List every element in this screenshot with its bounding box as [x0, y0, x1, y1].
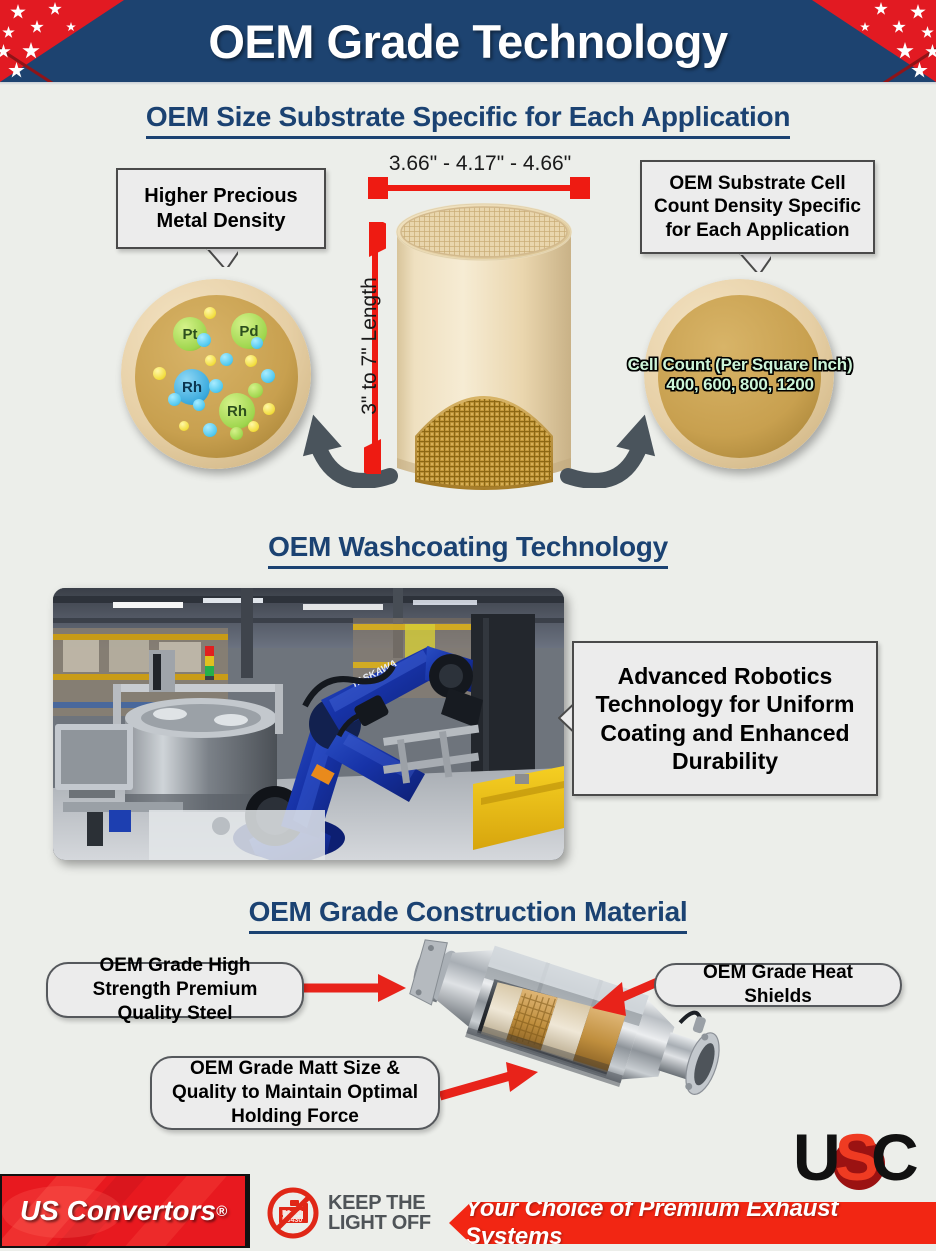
- substrate-honeycomb-face: Pt Pd Rh Rh: [135, 295, 298, 458]
- cell-count-title: Cell Count (Per Square Inch): [590, 355, 890, 375]
- us-convertors-logo-box: US Convertors®: [0, 1174, 247, 1248]
- page-header: OEM Grade Technology: [0, 0, 936, 82]
- arrow-steel: [300, 972, 408, 1004]
- usc-logo: U S C: [795, 1120, 923, 1192]
- pgm-dot: [230, 427, 243, 440]
- keep-light-line-1: KEEP THE: [328, 1193, 431, 1213]
- cell-count-callout: Cell Count (Per Square Inch) 400, 600, 8…: [590, 355, 890, 394]
- svg-text:C: C: [871, 1120, 917, 1192]
- brand-name: US Convertors: [20, 1195, 216, 1227]
- cell-count-values: 400, 600, 800, 1200: [590, 375, 890, 395]
- callout-advanced-robotics-text: Advanced Robotics Technology for Uniform…: [582, 662, 868, 774]
- callout-premium-steel: OEM Grade High Strength Premium Quality …: [46, 962, 304, 1018]
- washcoating-robot-photo: YASKAWA: [53, 588, 564, 860]
- registered-mark: ®: [216, 1203, 227, 1220]
- substrate-cylinder: [389, 196, 579, 496]
- callout-matt-size-text: OEM Grade Matt Size & Quality to Maintai…: [164, 1057, 426, 1128]
- tagline-text: Your Choice of Premium Exhaust Systems: [449, 1195, 936, 1251]
- dimension-length-label: 3" to 7" Length: [358, 246, 382, 446]
- section-heading-washcoating-text: OEM Washcoating Technology: [268, 531, 668, 562]
- pgm-dot: [153, 367, 166, 380]
- callout-tail-right: [737, 252, 771, 272]
- callout-cell-count-density: OEM Substrate Cell Count Density Specifi…: [640, 160, 875, 254]
- pgm-dot: [203, 423, 217, 437]
- callout-cell-count-density-text: OEM Substrate Cell Count Density Specifi…: [650, 172, 865, 242]
- pgm-dot: [248, 383, 263, 398]
- no-check-engine-icon: P0420 P0430: [266, 1186, 320, 1240]
- callout-tail-left: [204, 247, 238, 267]
- keep-light-off-badge: P0420 P0430 KEEP THE LIGHT OFF: [266, 1186, 431, 1240]
- pgm-dot: [193, 399, 205, 411]
- svg-text:U: U: [795, 1120, 837, 1192]
- pgm-dot: [179, 421, 189, 431]
- tagline-ribbon: Your Choice of Premium Exhaust Systems: [449, 1202, 936, 1244]
- callout-matt-size: OEM Grade Matt Size & Quality to Maintai…: [150, 1056, 440, 1130]
- keep-light-line-2: LIGHT OFF: [328, 1213, 431, 1233]
- section-heading-construction: OEM Grade Construction Material: [0, 896, 936, 938]
- footer-divider: [247, 1174, 250, 1248]
- us-convertors-logo-text: US Convertors®: [2, 1176, 245, 1246]
- section-heading-substrate: OEM Size Substrate Specific for Each App…: [0, 101, 936, 143]
- callout-precious-metal-density: Higher Precious Metal Density: [116, 168, 326, 249]
- callout-heat-shields-text: OEM Grade Heat Shields: [668, 961, 888, 1009]
- section-heading-washcoating: OEM Washcoating Technology: [0, 531, 936, 573]
- page-title: OEM Grade Technology: [0, 0, 936, 82]
- pgm-dot: [168, 393, 181, 406]
- callout-precious-metal-density-text: Higher Precious Metal Density: [126, 184, 316, 233]
- pgm-dot: [248, 421, 259, 432]
- heading-underline: [146, 136, 790, 139]
- pgm-dot: [197, 333, 211, 347]
- dimension-width-label: 3.66" - 4.17" - 4.66": [365, 152, 595, 176]
- pgm-dot: [245, 355, 257, 367]
- dimension-width-arrow: [368, 177, 590, 199]
- pgm-dot: [251, 337, 263, 349]
- header-divider: [0, 82, 936, 85]
- callout-premium-steel-text: OEM Grade High Strength Premium Quality …: [60, 954, 290, 1025]
- section-heading-substrate-text: OEM Size Substrate Specific for Each App…: [146, 101, 790, 132]
- pgm-dot: [204, 307, 216, 319]
- pgm-dot: [263, 403, 275, 415]
- section-heading-construction-text: OEM Grade Construction Material: [249, 896, 688, 927]
- pgm-dot: [205, 355, 216, 366]
- pgm-dot: [220, 353, 233, 366]
- pgm-dot: [261, 369, 275, 383]
- curved-arrow-right: [560, 398, 680, 488]
- pgm-dot: [209, 379, 223, 393]
- heading-underline: [268, 566, 668, 569]
- heading-underline: [249, 931, 688, 934]
- arrow-matt: [438, 1060, 540, 1102]
- callout-heat-shields: OEM Grade Heat Shields: [654, 963, 902, 1007]
- callout-advanced-robotics: Advanced Robotics Technology for Uniform…: [572, 641, 878, 796]
